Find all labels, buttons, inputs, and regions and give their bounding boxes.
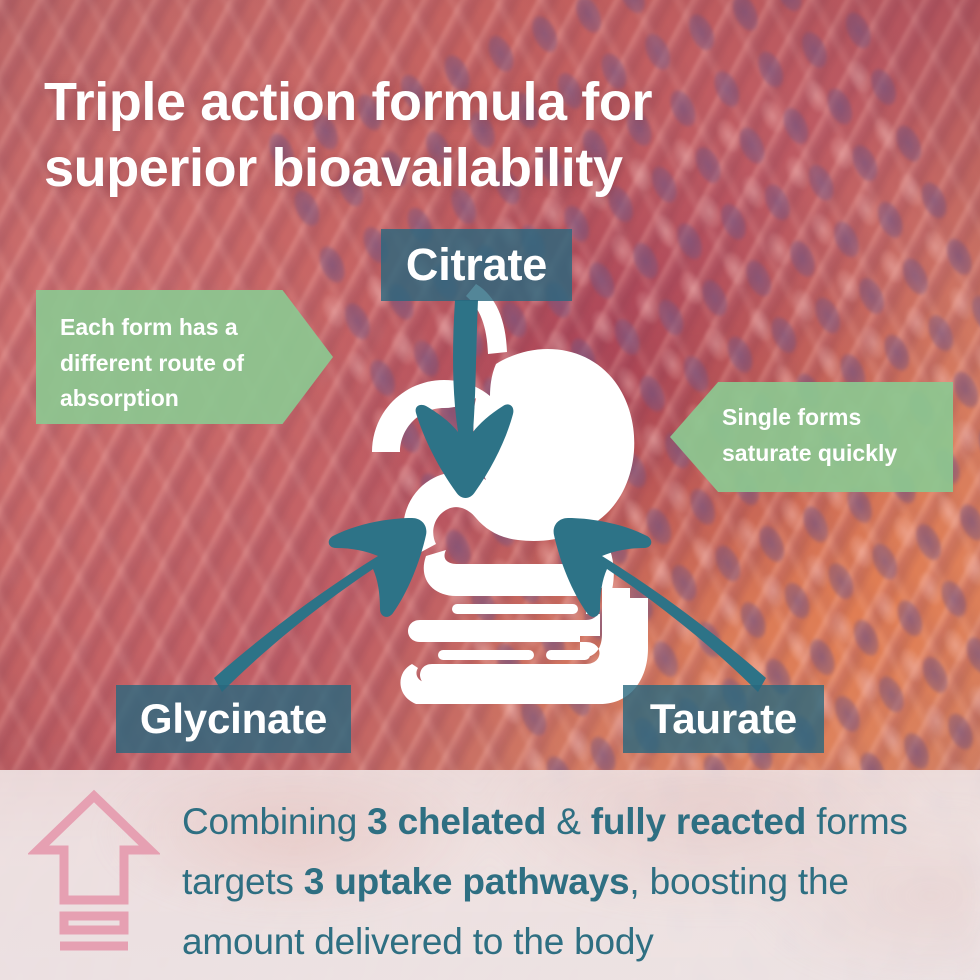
caption-l1-e: forms bbox=[806, 801, 908, 842]
callout-right-line-1: Single forms bbox=[722, 400, 935, 436]
caption-line-1: Combining 3 chelated & fully reacted for… bbox=[182, 792, 972, 852]
label-taurate: Taurate bbox=[623, 685, 824, 753]
label-taurate-text: Taurate bbox=[650, 695, 797, 743]
caption-l1-d: fully reacted bbox=[591, 801, 806, 842]
label-glycinate: Glycinate bbox=[116, 685, 351, 753]
upward-arrow-icon bbox=[28, 788, 160, 956]
caption-l1-c: & bbox=[546, 801, 591, 842]
caption-line-2: targets 3 uptake pathways, boosting the bbox=[182, 852, 972, 912]
page-title: Triple action formula for superior bioav… bbox=[44, 70, 864, 202]
caption-line-3: amount delivered to the body bbox=[182, 912, 972, 972]
caption-text: Combining 3 chelated & fully reacted for… bbox=[182, 792, 972, 972]
digestive-system-icon bbox=[300, 268, 700, 708]
caption-l2-a: targets bbox=[182, 861, 304, 902]
callout-left-line-1: Each form has a bbox=[60, 310, 275, 346]
caption-l2-c: , boosting the bbox=[629, 861, 848, 902]
caption-l1-b: 3 chelated bbox=[367, 801, 546, 842]
caption-l1-a: Combining bbox=[182, 801, 367, 842]
caption-band: Combining 3 chelated & fully reacted for… bbox=[0, 770, 980, 980]
callout-left-line-3: absorption bbox=[60, 381, 275, 417]
caption-l2-b: 3 uptake pathways bbox=[304, 861, 630, 902]
callout-right-line-2: saturate quickly bbox=[722, 436, 935, 472]
title-line-2: superior bioavailability bbox=[44, 136, 864, 202]
callout-left-line-2: different route of bbox=[60, 346, 275, 382]
label-glycinate-text: Glycinate bbox=[140, 695, 327, 743]
callout-left-absorption: Each form has a different route of absor… bbox=[36, 290, 333, 424]
title-line-1: Triple action formula for bbox=[44, 70, 864, 136]
label-citrate: Citrate bbox=[381, 229, 572, 301]
infographic-canvas: Triple action formula for superior bioav… bbox=[0, 0, 980, 980]
label-citrate-text: Citrate bbox=[406, 239, 547, 291]
callout-right-saturation: Single forms saturate quickly bbox=[670, 382, 953, 492]
